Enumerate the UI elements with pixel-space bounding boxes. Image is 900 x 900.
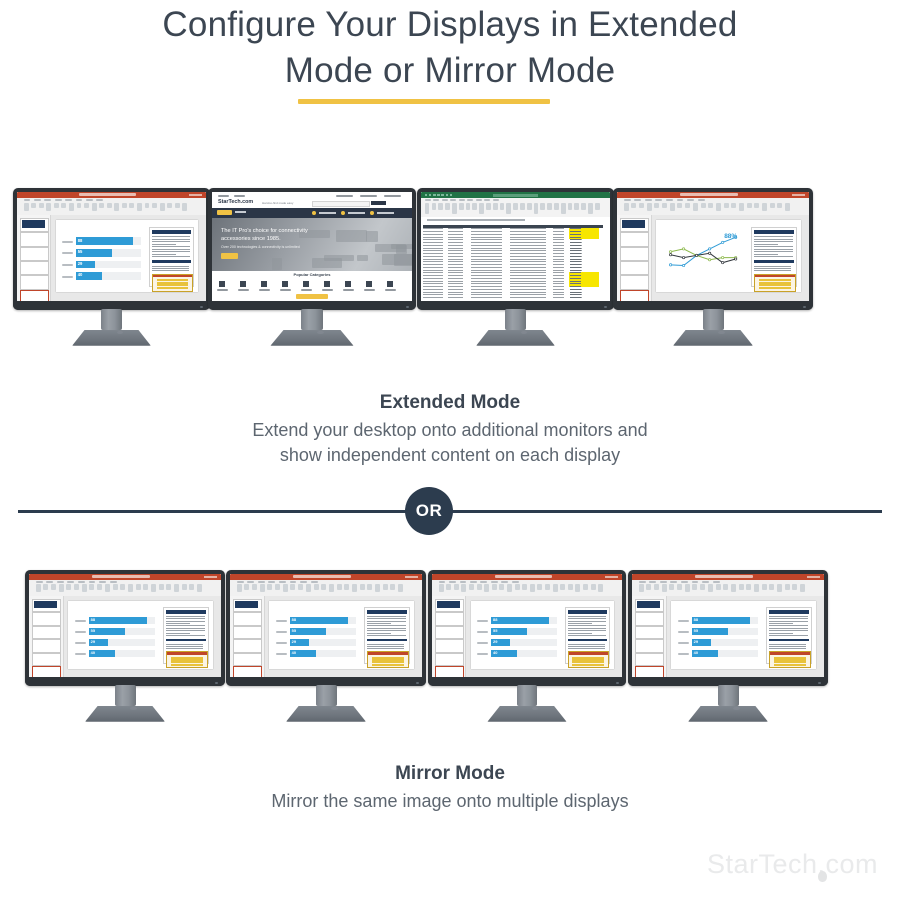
ribbon-button[interactable]	[770, 203, 775, 209]
slide-thumbnail[interactable]	[20, 218, 48, 232]
ribbon-button[interactable]	[670, 203, 675, 212]
ribbon-button[interactable]	[43, 584, 48, 589]
ribbon-tab[interactable]	[645, 199, 652, 201]
ribbon-tab[interactable]	[512, 581, 519, 583]
ribbon-button[interactable]	[439, 584, 444, 592]
ribbon-button[interactable]	[693, 203, 698, 212]
slide-thumbnail[interactable]	[635, 612, 664, 626]
ribbon-button[interactable]	[545, 584, 550, 589]
ribbon-tab[interactable]	[480, 581, 487, 583]
ribbon-tab[interactable]	[491, 581, 498, 583]
ribbon-button[interactable]	[662, 584, 667, 592]
slide-thumbnail[interactable]	[635, 653, 664, 667]
ribbon-tab[interactable]	[634, 199, 641, 201]
ribbon-tab[interactable]	[76, 199, 83, 201]
slide-thumbnail[interactable]	[20, 261, 48, 275]
utility-link[interactable]	[234, 195, 245, 197]
category-icon[interactable]	[345, 281, 351, 287]
slide-thumbnail[interactable]	[620, 247, 649, 261]
slide-thumbnail[interactable]	[20, 290, 48, 301]
slide-thumbnail[interactable]	[32, 612, 61, 626]
ribbon-button[interactable]	[588, 203, 593, 213]
ribbon-button[interactable]	[639, 584, 644, 592]
ribbon-button[interactable]	[499, 584, 504, 589]
ribbon-tab[interactable]	[484, 199, 490, 201]
utility-link[interactable]	[384, 195, 401, 197]
ribbon-tab[interactable]	[666, 199, 673, 201]
nav-badge-icon[interactable]	[370, 211, 374, 215]
ribbon-button[interactable]	[260, 584, 265, 592]
slide-thumbnail[interactable]	[435, 599, 464, 613]
ribbon-button[interactable]	[716, 203, 721, 212]
ribbon-tab[interactable]	[449, 581, 456, 583]
ribbon-button[interactable]	[554, 203, 559, 210]
category-icon[interactable]	[387, 281, 393, 287]
nav-link[interactable]	[377, 212, 394, 214]
ribbon-tab[interactable]	[237, 581, 244, 583]
window-controls-icon[interactable]	[204, 576, 217, 578]
slide-thumbnail-rail[interactable]	[230, 596, 265, 677]
ribbon-button[interactable]	[492, 584, 497, 589]
ribbon-tab[interactable]	[65, 199, 72, 201]
highlighted-cells[interactable]	[569, 272, 598, 287]
ribbon-button[interactable]	[329, 584, 334, 592]
ribbon-tab[interactable]	[55, 199, 62, 201]
ribbon-button[interactable]	[105, 584, 110, 592]
ribbon-tab[interactable]	[425, 199, 431, 201]
ribbon-button[interactable]	[513, 203, 518, 210]
slide-thumbnail[interactable]	[233, 626, 262, 640]
ribbon-button[interactable]	[54, 203, 59, 209]
ribbon-button[interactable]	[731, 584, 736, 592]
ribbon-tab[interactable]	[442, 199, 448, 201]
ribbon-button[interactable]	[568, 203, 573, 210]
ribbon-tab[interactable]	[677, 199, 684, 201]
category-label[interactable]	[259, 289, 270, 291]
ribbon-tab[interactable]	[687, 199, 694, 201]
ribbon-button[interactable]	[527, 203, 532, 210]
ribbon-button[interactable]	[631, 203, 636, 209]
ribbon-button[interactable]	[708, 203, 713, 209]
slide-thumbnail[interactable]	[435, 666, 464, 677]
ribbon-tab[interactable]	[660, 581, 667, 583]
category-label[interactable]	[322, 289, 333, 291]
ribbon-tab[interactable]	[300, 581, 307, 583]
website-search-button[interactable]	[371, 201, 386, 206]
ribbon-button[interactable]	[137, 203, 142, 212]
ribbon-button[interactable]	[275, 584, 280, 589]
monitor-screen[interactable]: 88552940	[230, 574, 422, 677]
ribbon-button[interactable]	[739, 203, 744, 212]
quick-access-icon[interactable]	[433, 194, 435, 196]
slide-canvas[interactable]: 88552940	[671, 601, 816, 669]
ribbon-button[interactable]	[777, 584, 782, 592]
ribbon-button[interactable]	[769, 584, 774, 589]
ribbon-tab[interactable]	[290, 581, 297, 583]
ribbon-button[interactable]	[446, 584, 451, 589]
ribbon-tab[interactable]	[89, 581, 96, 583]
ribbon-button[interactable]	[461, 584, 466, 592]
ribbon-button[interactable]	[122, 203, 127, 209]
slide-thumbnail[interactable]	[233, 666, 262, 677]
ribbon-button[interactable]	[84, 203, 89, 209]
ribbon-button[interactable]	[398, 584, 403, 592]
ribbon-button[interactable]	[595, 203, 600, 210]
nav-products-button[interactable]	[217, 210, 232, 215]
ribbon-button[interactable]	[175, 203, 180, 209]
ribbon-button[interactable]	[59, 584, 64, 592]
slide-thumbnail[interactable]	[635, 599, 664, 613]
ribbon-button[interactable]	[152, 203, 157, 209]
powerpoint-ribbon[interactable]	[17, 198, 206, 216]
ribbon-tab[interactable]	[681, 581, 688, 583]
category-label[interactable]	[343, 289, 354, 291]
ribbon-button[interactable]	[36, 584, 41, 592]
ribbon-button[interactable]	[438, 203, 443, 210]
ribbon-button[interactable]	[283, 584, 288, 592]
ribbon-button[interactable]	[39, 203, 44, 209]
slide-thumbnail[interactable]	[620, 290, 649, 301]
category-label[interactable]	[217, 289, 228, 291]
ribbon-button[interactable]	[500, 203, 505, 210]
ribbon-button[interactable]	[31, 203, 36, 209]
ribbon-tab[interactable]	[692, 581, 699, 583]
ribbon-tab[interactable]	[493, 199, 499, 201]
ribbon-button[interactable]	[197, 584, 202, 592]
ribbon-button[interactable]	[520, 203, 525, 210]
ribbon-button[interactable]	[452, 203, 457, 213]
ribbon-button[interactable]	[785, 584, 790, 589]
ribbon-button[interactable]	[182, 584, 187, 589]
ribbon-button[interactable]	[700, 584, 705, 589]
nav-badge-icon[interactable]	[341, 211, 345, 215]
powerpoint-ribbon[interactable]	[230, 580, 422, 597]
ribbon-button[interactable]	[390, 584, 395, 589]
ribbon-button[interactable]	[731, 203, 736, 209]
ribbon-tab[interactable]	[99, 581, 106, 583]
ribbon-button[interactable]	[337, 584, 342, 589]
ribbon-button[interactable]	[669, 584, 674, 589]
ribbon-button[interactable]	[724, 203, 729, 209]
slide-thumbnail[interactable]	[20, 232, 48, 246]
slide-thumbnail[interactable]	[435, 653, 464, 667]
ribbon-button[interactable]	[143, 584, 148, 589]
ribbon-button[interactable]	[568, 584, 573, 589]
ribbon-button[interactable]	[646, 584, 651, 589]
ribbon-tab[interactable]	[258, 581, 265, 583]
ribbon-tab[interactable]	[247, 581, 254, 583]
slide-canvas[interactable]: 88552940	[269, 601, 414, 669]
nav-support-link[interactable]	[235, 211, 246, 213]
ribbon-button[interactable]	[375, 584, 380, 592]
ribbon-button[interactable]	[432, 203, 437, 210]
slide-thumbnail[interactable]	[233, 599, 262, 613]
ribbon-button[interactable]	[739, 584, 744, 589]
ribbon-tab[interactable]	[279, 581, 286, 583]
view-all-categories-button[interactable]	[296, 294, 328, 299]
ribbon-button[interactable]	[459, 203, 464, 210]
ribbon-tab[interactable]	[78, 581, 85, 583]
ribbon-button[interactable]	[515, 584, 520, 589]
ribbon-button[interactable]	[785, 203, 790, 212]
utility-link[interactable]	[218, 195, 229, 197]
ribbon-button[interactable]	[581, 203, 586, 210]
ribbon-tab[interactable]	[698, 199, 705, 201]
ribbon-tab[interactable]	[501, 581, 508, 583]
ribbon-button[interactable]	[507, 584, 512, 592]
ribbon-button[interactable]	[477, 584, 482, 589]
ribbon-button[interactable]	[472, 203, 477, 210]
ribbon-button[interactable]	[290, 584, 295, 589]
slide-canvas[interactable]: 88552940	[471, 601, 614, 669]
ribbon-button[interactable]	[716, 584, 721, 589]
ribbon-tab[interactable]	[46, 581, 53, 583]
ribbon-button[interactable]	[159, 584, 164, 589]
ribbon-tab[interactable]	[67, 581, 74, 583]
slide-thumbnail[interactable]	[233, 612, 262, 626]
ribbon-tab[interactable]	[713, 581, 720, 583]
ribbon-tab[interactable]	[36, 581, 43, 583]
ribbon-tab[interactable]	[655, 199, 662, 201]
slide-thumbnail[interactable]	[435, 639, 464, 653]
ribbon-button[interactable]	[107, 203, 112, 209]
ribbon-button[interactable]	[746, 584, 751, 589]
ribbon-button[interactable]	[723, 584, 728, 589]
ribbon-tab[interactable]	[96, 199, 103, 201]
nav-link[interactable]	[319, 212, 336, 214]
ribbon-button[interactable]	[493, 203, 498, 210]
ribbon-button[interactable]	[77, 203, 82, 209]
ribbon-button[interactable]	[624, 203, 629, 212]
ribbon-button[interactable]	[145, 203, 150, 209]
utility-link[interactable]	[360, 195, 377, 197]
ribbon-button[interactable]	[534, 203, 539, 213]
slide-thumbnail[interactable]	[32, 626, 61, 640]
ribbon-button[interactable]	[662, 203, 667, 209]
ribbon-button[interactable]	[540, 203, 545, 210]
monitor-screen[interactable]	[421, 192, 610, 301]
ribbon-button[interactable]	[466, 203, 471, 210]
slide-thumbnail-rail[interactable]	[17, 215, 51, 301]
ribbon-button[interactable]	[708, 584, 713, 592]
powerpoint-ribbon[interactable]	[432, 580, 622, 597]
ribbon-button[interactable]	[777, 203, 782, 209]
category-icon[interactable]	[219, 281, 225, 287]
ribbon-button[interactable]	[647, 203, 652, 212]
ribbon-button[interactable]	[754, 203, 759, 209]
ribbon-button[interactable]	[306, 584, 311, 592]
nav-badge-icon[interactable]	[312, 211, 316, 215]
ribbon-button[interactable]	[685, 203, 690, 209]
window-controls-icon[interactable]	[405, 576, 418, 578]
ribbon-button[interactable]	[321, 584, 326, 589]
nav-link[interactable]	[348, 212, 365, 214]
ribbon-button[interactable]	[92, 203, 97, 212]
slide-thumbnail[interactable]	[32, 666, 61, 677]
ribbon-tab[interactable]	[86, 199, 93, 201]
category-label[interactable]	[280, 289, 291, 291]
ribbon-button[interactable]	[46, 203, 51, 212]
quick-access-icon[interactable]	[437, 194, 439, 196]
monitor-screen[interactable]: 88552940	[29, 574, 221, 677]
ribbon-button[interactable]	[445, 203, 450, 210]
quick-access-icon[interactable]	[441, 194, 443, 196]
ribbon-button[interactable]	[97, 584, 102, 589]
hero-learn-more-button[interactable]	[221, 253, 238, 259]
ribbon-button[interactable]	[51, 584, 56, 589]
window-controls-icon[interactable]	[189, 194, 202, 196]
ribbon-button[interactable]	[575, 584, 580, 592]
ribbon-button[interactable]	[89, 584, 94, 589]
slide-thumbnail[interactable]	[20, 275, 48, 289]
ribbon-button[interactable]	[69, 203, 74, 212]
ribbon-button[interactable]	[591, 584, 596, 589]
ribbon-tab[interactable]	[311, 581, 318, 583]
monitor-screen[interactable]: 88552940	[632, 574, 824, 677]
quick-access-icon[interactable]	[425, 194, 427, 196]
ribbon-button[interactable]	[314, 584, 319, 589]
slide-thumbnail[interactable]	[620, 261, 649, 275]
ribbon-button[interactable]	[479, 203, 484, 213]
ribbon-tab[interactable]	[24, 199, 31, 201]
quick-access-icon[interactable]	[450, 194, 452, 196]
ribbon-button[interactable]	[174, 584, 179, 592]
ribbon-button[interactable]	[547, 203, 552, 210]
ribbon-button[interactable]	[792, 584, 797, 589]
ribbon-tab[interactable]	[44, 199, 51, 201]
ribbon-tab[interactable]	[433, 199, 439, 201]
ribbon-button[interactable]	[151, 584, 156, 592]
ribbon-button[interactable]	[114, 203, 119, 212]
ribbon-tab[interactable]	[459, 199, 465, 201]
ribbon-button[interactable]	[560, 584, 565, 589]
ribbon-tab[interactable]	[476, 199, 482, 201]
ribbon-button[interactable]	[352, 584, 357, 592]
slide-thumbnail[interactable]	[32, 653, 61, 667]
ribbon-button[interactable]	[561, 203, 566, 213]
category-icon[interactable]	[261, 281, 267, 287]
window-controls-icon[interactable]	[807, 576, 820, 578]
ribbon-button[interactable]	[74, 584, 79, 589]
startech-logo[interactable]: StarTech.com	[218, 200, 253, 205]
slide-thumbnail-rail[interactable]	[432, 596, 466, 677]
ribbon-button[interactable]	[237, 584, 242, 592]
ribbon-button[interactable]	[654, 584, 659, 589]
ribbon-button[interactable]	[129, 203, 134, 209]
ribbon-button[interactable]	[583, 584, 588, 589]
ribbon-tab[interactable]	[110, 581, 117, 583]
ribbon-button[interactable]	[484, 584, 489, 592]
ribbon-button[interactable]	[685, 584, 690, 592]
window-controls-icon[interactable]	[792, 194, 805, 196]
ribbon-button[interactable]	[189, 584, 194, 589]
ribbon-button[interactable]	[454, 584, 459, 589]
ribbon-button[interactable]	[99, 203, 104, 209]
ribbon-button[interactable]	[66, 584, 71, 589]
website-main-nav[interactable]	[212, 208, 412, 217]
category-label[interactable]	[238, 289, 249, 291]
monitor-screen[interactable]: 88%	[617, 192, 809, 301]
ribbon-button[interactable]	[677, 584, 682, 589]
monitor-screen[interactable]: 88552940	[432, 574, 622, 677]
ribbon-tab[interactable]	[467, 199, 473, 201]
ribbon-tab[interactable]	[57, 581, 64, 583]
ribbon-tab[interactable]	[470, 581, 477, 583]
slide-thumbnail-rail[interactable]	[29, 596, 64, 677]
slide-thumbnail[interactable]	[233, 639, 262, 653]
ribbon-button[interactable]	[425, 203, 430, 213]
ribbon-button[interactable]	[160, 203, 165, 212]
ribbon-button[interactable]	[553, 584, 558, 592]
ribbon-button[interactable]	[762, 584, 767, 589]
ribbon-button[interactable]	[522, 584, 527, 589]
ribbon-button[interactable]	[267, 584, 272, 589]
ribbon-tab[interactable]	[670, 581, 677, 583]
ribbon-button[interactable]	[469, 584, 474, 589]
excel-ribbon[interactable]	[421, 198, 610, 218]
ribbon-tab[interactable]	[450, 199, 456, 201]
ribbon-button[interactable]	[367, 584, 372, 589]
spreadsheet-grid[interactable]	[421, 223, 610, 301]
ribbon-tab[interactable]	[649, 581, 656, 583]
slide-thumbnail[interactable]	[32, 599, 61, 613]
slide-thumbnail[interactable]	[435, 626, 464, 640]
ribbon-tab[interactable]	[702, 581, 709, 583]
ribbon-button[interactable]	[530, 584, 535, 592]
website-search-input[interactable]	[312, 201, 370, 208]
category-icon[interactable]	[240, 281, 246, 287]
monitor-screen[interactable]: 88552940	[17, 192, 206, 301]
ribbon-button[interactable]	[800, 584, 805, 592]
slide-thumbnail[interactable]	[635, 666, 664, 677]
utility-link[interactable]	[336, 195, 353, 197]
ribbon-tab[interactable]	[439, 581, 446, 583]
ribbon-button[interactable]	[24, 203, 29, 212]
ribbon-button[interactable]	[128, 584, 133, 592]
ribbon-button[interactable]	[537, 584, 542, 589]
quick-access-icon[interactable]	[446, 194, 448, 196]
slide-canvas[interactable]: 88552940	[68, 601, 213, 669]
ribbon-button[interactable]	[754, 584, 759, 592]
ribbon-button[interactable]	[747, 203, 752, 209]
ribbon-button[interactable]	[136, 584, 141, 589]
ribbon-tab[interactable]	[34, 199, 41, 201]
slide-thumbnail[interactable]	[635, 639, 664, 653]
powerpoint-ribbon[interactable]	[617, 198, 809, 216]
category-label[interactable]	[364, 289, 375, 291]
ribbon-button[interactable]	[639, 203, 644, 209]
category-label[interactable]	[385, 289, 396, 291]
ribbon-button[interactable]	[61, 203, 66, 209]
slide-thumbnail[interactable]	[620, 218, 649, 232]
monitor-screen[interactable]: StarTech.comHard-to-find made easyThe IT…	[212, 192, 412, 301]
ribbon-button[interactable]	[506, 203, 511, 213]
ribbon-button[interactable]	[113, 584, 118, 589]
ribbon-button[interactable]	[120, 584, 125, 589]
slide-thumbnail[interactable]	[233, 653, 262, 667]
category-icon[interactable]	[324, 281, 330, 287]
ribbon-tab[interactable]	[639, 581, 646, 583]
slide-thumbnail[interactable]	[620, 275, 649, 289]
ribbon-button[interactable]	[252, 584, 257, 589]
ribbon-button[interactable]	[182, 203, 187, 212]
powerpoint-ribbon[interactable]	[632, 580, 824, 597]
ribbon-button[interactable]	[701, 203, 706, 209]
ribbon-tab[interactable]	[460, 581, 467, 583]
slide-thumbnail[interactable]	[435, 612, 464, 626]
ribbon-button[interactable]	[167, 203, 172, 209]
ribbon-button[interactable]	[244, 584, 249, 589]
